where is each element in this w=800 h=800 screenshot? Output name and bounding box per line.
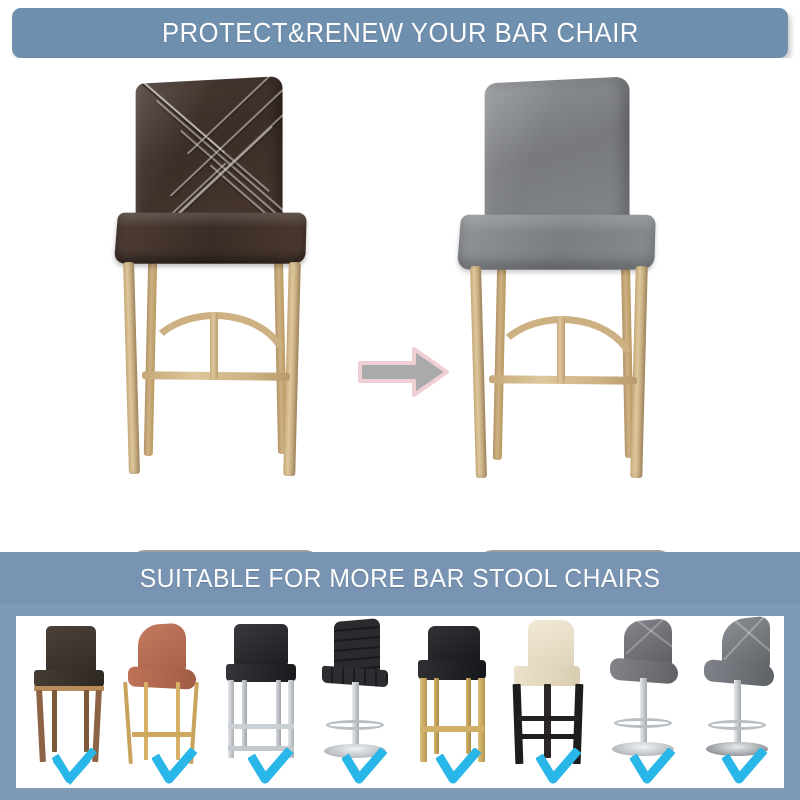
mini-footrest [420, 726, 484, 732]
check-mark-icon [52, 748, 98, 786]
header-banner: PROTECT&RENEW YOUR BAR CHAIR [12, 8, 788, 58]
chair-leg-front-left [123, 262, 140, 474]
chair-leg-front-right [630, 266, 648, 478]
mini-seat [418, 660, 486, 680]
page-title: PROTECT&RENEW YOUR BAR CHAIR [162, 17, 639, 49]
mini-seat [226, 664, 296, 682]
mini-leg [434, 678, 439, 754]
gallery-item-6[interactable] [496, 616, 592, 788]
chair-leg-front-left [470, 266, 487, 478]
mini-backrest [528, 620, 574, 672]
gallery-item-1[interactable] [16, 616, 112, 788]
chair-backrest [136, 76, 283, 222]
chair-cover-seat [457, 215, 656, 270]
mini-leg [276, 680, 281, 750]
mini-gas-lift-column [640, 678, 647, 742]
mini-leg [466, 678, 471, 754]
section-banner: SUITABLE FOR MORE BAR STOOL CHAIRS [0, 552, 800, 604]
check-mark-icon [248, 748, 294, 786]
mini-footrest [228, 724, 294, 729]
mini-gas-lift-column [734, 680, 741, 742]
chair-stretcher-vertical [557, 316, 565, 384]
check-mark-icon [436, 748, 482, 786]
gallery-item-2[interactable] [112, 616, 208, 788]
mini-footrest-ring [708, 720, 766, 730]
gallery-item-3[interactable] [208, 616, 304, 788]
gallery-section [0, 604, 800, 800]
quilt-pattern [136, 76, 283, 222]
chair-stretcher-vertical [210, 312, 218, 380]
mini-footrest-ring [614, 718, 672, 728]
mini-stretcher [516, 716, 580, 721]
mini-leg [123, 682, 133, 764]
mini-gas-lift-column [352, 682, 359, 744]
before-chair-image: Before installtion [80, 80, 380, 520]
mini-backrest [46, 626, 96, 674]
comparison-section: Before installtion After installation [0, 58, 800, 545]
after-chair-image: After installation [425, 80, 725, 520]
check-mark-icon [630, 748, 676, 786]
gallery-item-4[interactable] [304, 616, 400, 788]
mini-stretcher [516, 734, 580, 739]
bottom-edge [0, 796, 800, 800]
section-title: SUITABLE FOR MORE BAR STOOL CHAIRS [140, 563, 661, 594]
check-mark-icon [536, 748, 582, 786]
gallery-item-7[interactable] [592, 616, 688, 788]
mini-leg [242, 680, 247, 750]
mini-leg [144, 682, 148, 760]
check-mark-icon [722, 748, 768, 786]
mini-backrest [234, 624, 288, 668]
chair-cover-backrest [485, 76, 630, 223]
mini-leg [52, 690, 57, 752]
gallery-item-8[interactable] [688, 616, 784, 788]
mini-leg [513, 684, 524, 764]
mini-footrest [132, 732, 192, 737]
mini-seat [514, 666, 580, 686]
mini-leg [84, 690, 89, 752]
gallery-panel [16, 616, 784, 788]
mini-seat-trim [34, 686, 104, 691]
chair-seat [114, 213, 307, 264]
check-mark-icon [152, 748, 198, 786]
mini-leg [36, 690, 46, 762]
mini-leg [420, 678, 427, 762]
arrow-right-icon [358, 346, 450, 398]
gallery-item-5[interactable] [400, 616, 496, 788]
mini-leg [544, 684, 551, 758]
mini-seat [128, 666, 196, 690]
chair-leg-front-right [283, 262, 301, 476]
mini-footrest-ring [326, 720, 384, 730]
check-mark-icon [342, 748, 388, 786]
